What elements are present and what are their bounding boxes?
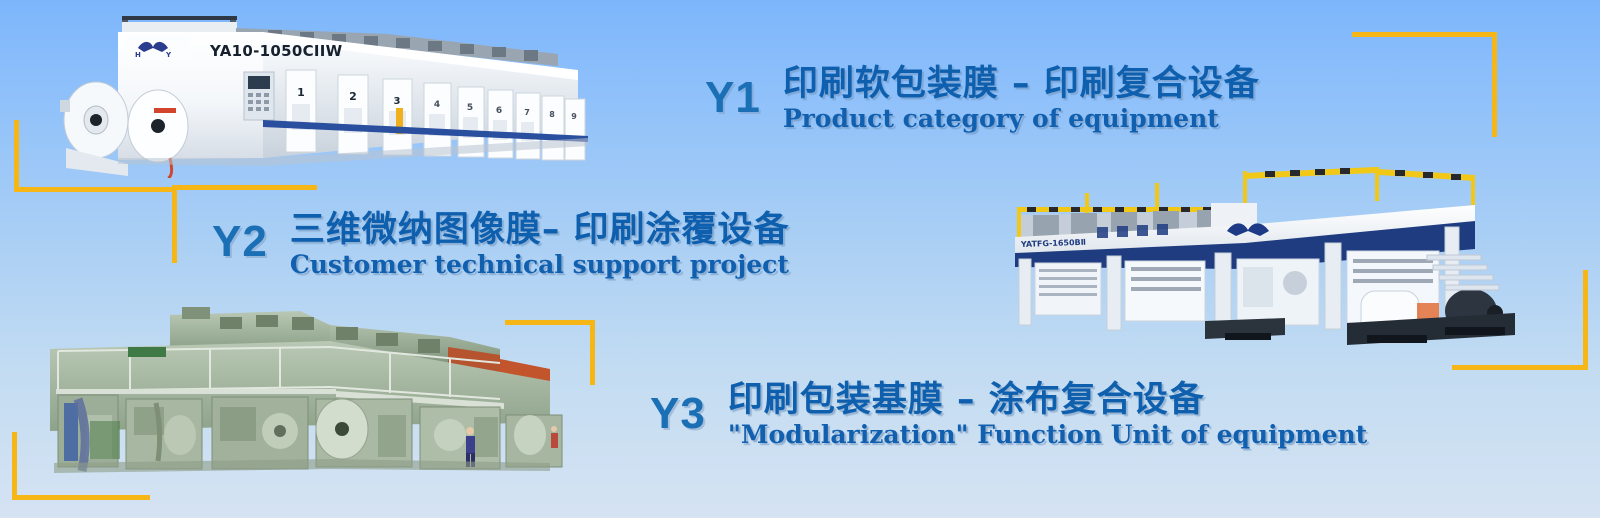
svg-text:5: 5 <box>467 103 473 113</box>
section-code-y2: Y2 <box>212 220 268 264</box>
print-unit: 4 <box>424 83 451 156</box>
print-unit: 8 <box>542 96 564 160</box>
banner-stage: H Y YA10-1050CIIW <box>0 0 1600 518</box>
section-title-cn-y1: 印刷软包装膜 – 印刷复合设备 <box>783 66 1260 103</box>
svg-text:8: 8 <box>549 110 555 119</box>
svg-text:4: 4 <box>434 100 440 110</box>
section-y1: Y1 印刷软包装膜 – 印刷复合设备 Product category of e… <box>705 66 1260 132</box>
machine-coating-laminating: YATFG-1650BⅡ <box>975 163 1530 363</box>
section-title-cn-y2: 三维微纳图像膜– 印刷涂覆设备 <box>290 212 790 249</box>
section-title-cn-y3: 印刷包装基膜 – 涂布复合设备 <box>728 382 1367 419</box>
section-title-en-y1: Product category of equipment <box>783 106 1260 132</box>
corner-bracket-top-right <box>1352 32 1497 137</box>
svg-text:1: 1 <box>297 86 305 99</box>
svg-text:Y: Y <box>165 51 172 59</box>
corner-bracket-left-upper <box>14 120 174 192</box>
corner-bracket-bottom-left <box>12 432 150 500</box>
print-unit: 3 <box>383 79 412 155</box>
corner-bracket-right-lower <box>1452 270 1588 370</box>
section-title-en-y3: "Modularization" Function Unit of equipm… <box>728 422 1367 448</box>
svg-text:7: 7 <box>524 108 530 117</box>
svg-text:6: 6 <box>496 106 502 116</box>
svg-text:3: 3 <box>394 96 401 107</box>
section-y3: Y3 印刷包装基膜 – 涂布复合设备 "Modularization" Func… <box>650 382 1367 448</box>
machine-model-label: YA10-1050CIIW <box>209 42 343 60</box>
print-unit: 9 <box>565 99 585 160</box>
section-title-en-y2: Customer technical support project <box>290 252 790 278</box>
svg-text:9: 9 <box>571 112 577 121</box>
print-unit: 2 <box>338 75 368 154</box>
section-code-y3: Y3 <box>650 392 706 436</box>
print-unit: 1 <box>286 70 316 152</box>
section-y2: Y2 三维微纳图像膜– 印刷涂覆设备 Customer technical su… <box>212 212 790 278</box>
section-code-y1: Y1 <box>705 76 761 120</box>
svg-text:2: 2 <box>349 90 357 103</box>
corner-bracket-machine3-top <box>505 320 595 385</box>
svg-text:H: H <box>135 51 141 59</box>
